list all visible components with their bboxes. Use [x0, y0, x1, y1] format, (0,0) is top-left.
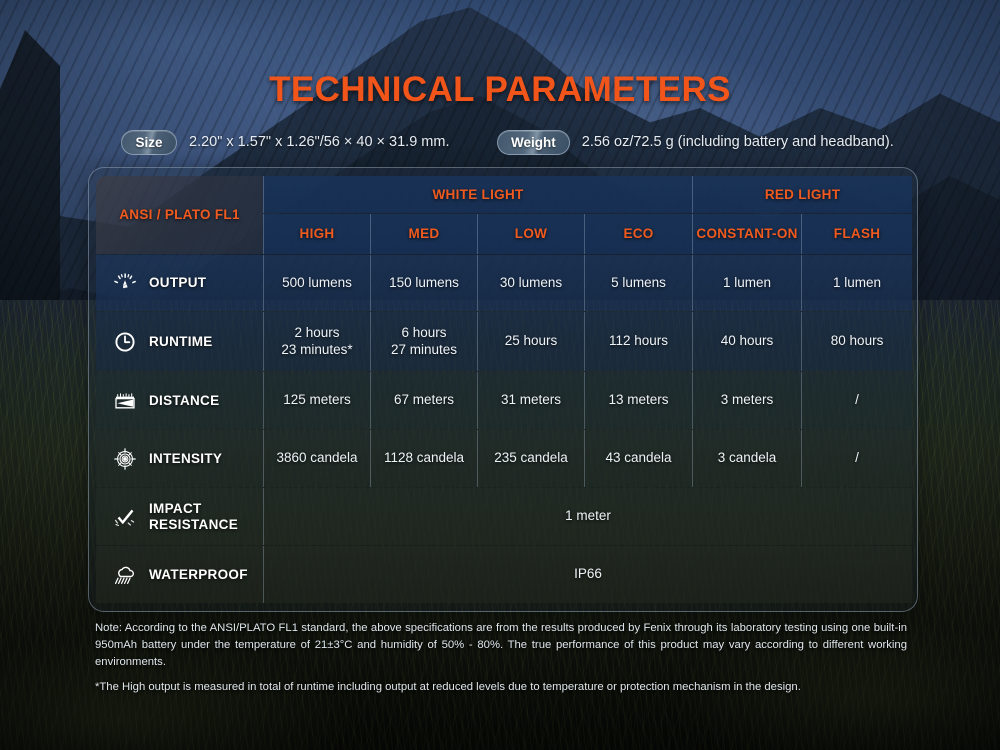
cell-value: 500 lumens — [264, 275, 370, 292]
column-label-constant-on: CONSTANT-ON — [693, 226, 801, 241]
cell-value: 5 lumens — [585, 275, 692, 292]
cell-value: 13 meters — [585, 392, 692, 409]
cell-value: 31 meters — [478, 392, 584, 409]
cell-impact-resistance-value: 1 meter — [263, 488, 912, 545]
cell-intensity-eco: 43 candela — [584, 430, 692, 487]
cell-runtime-eco: 112 hours — [584, 312, 692, 371]
cell-value: 1 meter — [264, 508, 912, 525]
row-label-distance: DISTANCE — [96, 372, 263, 429]
cell-intensity-med: 1128 candela — [370, 430, 477, 487]
cell-output-eco: 5 lumens — [584, 255, 692, 312]
cell-waterproof-value: IP66 — [263, 546, 912, 603]
row-label-text: DISTANCE — [149, 393, 219, 409]
column-label-med: MED — [371, 226, 477, 241]
table-row: INTENSITY 3860 candela 1128 candela 235 … — [96, 430, 912, 487]
cell-value: 30 lumens — [478, 275, 584, 292]
cell-value: / — [802, 450, 912, 467]
row-label-waterproof: WATERPROOF — [96, 546, 263, 603]
column-label-high: HIGH — [264, 226, 370, 241]
row-label-text: OUTPUT — [149, 275, 206, 291]
cell-runtime-flash: 80 hours — [801, 312, 912, 371]
row-label-impact-resistance: IMPACTRESISTANCE — [96, 488, 263, 545]
column-label-flash: FLASH — [802, 226, 912, 241]
cell-value: 3 meters — [693, 392, 801, 409]
cell-value: 40 hours — [693, 333, 801, 350]
cell-output-low: 30 lumens — [477, 255, 584, 312]
size-spec-line: Size 2.20" x 1.57" x 1.26"/56 × 40 × 31.… — [121, 129, 450, 155]
weight-value: 2.56 oz/72.5 g (including battery and he… — [582, 134, 894, 150]
table-group-header-row: ANSI / PLATO FL1 WHITE LIGHT RED LIGHT — [96, 176, 912, 213]
table-row: OUTPUT 500 lumens 150 lumens 30 lumens 5… — [96, 255, 912, 312]
cell-runtime-med: 6 hours27 minutes — [370, 312, 477, 371]
cell-output-high: 500 lumens — [263, 255, 370, 312]
column-label-low: LOW — [478, 226, 584, 241]
footnote-block: Note: According to the ANSI/PLATO FL1 st… — [95, 620, 907, 697]
specifications-table: ANSI / PLATO FL1 WHITE LIGHT RED LIGHT H… — [96, 175, 912, 604]
cell-distance-eco: 13 meters — [584, 372, 692, 429]
row-label-runtime: RUNTIME — [96, 312, 263, 371]
column-header-constant-on[interactable]: CONSTANT-ON — [692, 214, 801, 253]
row-label-text: WATERPROOF — [149, 567, 248, 583]
cell-distance-low: 31 meters — [477, 372, 584, 429]
cell-output-flash: 1 lumen — [801, 255, 912, 312]
page-title: TECHNICAL PARAMETERS — [0, 70, 1000, 110]
column-header-med[interactable]: MED — [370, 214, 477, 253]
cell-intensity-high: 3860 candela — [263, 430, 370, 487]
row-label-text: INTENSITY — [149, 451, 222, 467]
row-label-text: RUNTIME — [149, 334, 213, 350]
table-row: WATERPROOF IP66 — [96, 546, 912, 603]
table-row: DISTANCE 125 meters 67 meters 31 meters … — [96, 372, 912, 429]
cell-value: 1128 candela — [371, 450, 477, 467]
cell-intensity-flash: / — [801, 430, 912, 487]
cell-intensity-constant-on: 3 candela — [692, 430, 801, 487]
cell-distance-flash: / — [801, 372, 912, 429]
weight-spec-line: Weight 2.56 oz/72.5 g (including battery… — [497, 129, 894, 155]
impact-check-icon — [112, 504, 138, 530]
cell-value: 112 hours — [585, 333, 692, 350]
column-header-low[interactable]: LOW — [477, 214, 584, 253]
impact-label-line1: IMPACT — [149, 501, 202, 516]
table-row: RUNTIME 2 hours23 minutes* 6 hours27 min… — [96, 312, 912, 371]
cell-runtime-constant-on: 40 hours — [692, 312, 801, 371]
cell-distance-high: 125 meters — [263, 372, 370, 429]
group-header-white-light: WHITE LIGHT — [263, 176, 692, 213]
cell-value: 67 meters — [371, 392, 477, 409]
cell-value: 125 meters — [264, 392, 370, 409]
row-label-text: IMPACTRESISTANCE — [149, 501, 238, 533]
rain-cloud-icon — [112, 562, 138, 588]
cell-value: 3860 candela — [264, 450, 370, 467]
red-light-label: RED LIGHT — [693, 187, 912, 202]
group-header-red-light: RED LIGHT — [692, 176, 912, 213]
weight-badge: Weight — [497, 130, 570, 155]
footnote-paragraph-2: *The High output is measured in total of… — [95, 679, 907, 696]
cell-value: 80 hours — [802, 333, 912, 350]
clock-icon — [112, 329, 138, 355]
column-header-flash[interactable]: FLASH — [801, 214, 912, 253]
column-header-high[interactable]: HIGH — [263, 214, 370, 253]
cell-distance-med: 67 meters — [370, 372, 477, 429]
cell-value: 25 hours — [478, 333, 584, 350]
cell-value: 6 hours27 minutes — [371, 325, 477, 359]
cell-value: 3 candela — [693, 450, 801, 467]
cell-value: 1 lumen — [693, 275, 801, 292]
impact-label-line2: RESISTANCE — [149, 517, 238, 532]
cell-runtime-high: 2 hours23 minutes* — [263, 312, 370, 371]
ansi-plato-corner-cell: ANSI / PLATO FL1 — [96, 176, 263, 254]
cell-value: 150 lumens — [371, 275, 477, 292]
column-header-eco[interactable]: ECO — [584, 214, 692, 253]
cell-value: IP66 — [264, 566, 912, 583]
ansi-plato-label: ANSI / PLATO FL1 — [96, 207, 263, 222]
column-label-eco: ECO — [585, 226, 692, 241]
cell-value: 2 hours23 minutes* — [264, 325, 370, 359]
size-badge: Size — [121, 130, 177, 155]
cell-value: / — [802, 392, 912, 409]
cell-value: 43 candela — [585, 450, 692, 467]
cell-distance-constant-on: 3 meters — [692, 372, 801, 429]
cell-value: 235 candela — [478, 450, 584, 467]
size-value: 2.20" x 1.57" x 1.26"/56 × 40 × 31.9 mm. — [189, 134, 450, 150]
cell-intensity-low: 235 candela — [477, 430, 584, 487]
light-burst-icon — [112, 270, 138, 296]
target-intensity-icon — [112, 446, 138, 472]
cell-value: 1 lumen — [802, 275, 912, 292]
cell-runtime-low: 25 hours — [477, 312, 584, 371]
footnote-paragraph-1: Note: According to the ANSI/PLATO FL1 st… — [95, 620, 907, 671]
beam-distance-icon — [112, 388, 138, 414]
table-row: IMPACTRESISTANCE 1 meter — [96, 488, 912, 545]
technical-parameters-panel: ANSI / PLATO FL1 WHITE LIGHT RED LIGHT H… — [88, 167, 918, 612]
cell-output-constant-on: 1 lumen — [692, 255, 801, 312]
row-label-intensity: INTENSITY — [96, 430, 263, 487]
white-light-label: WHITE LIGHT — [264, 187, 692, 202]
cell-output-med: 150 lumens — [370, 255, 477, 312]
row-label-output: OUTPUT — [96, 255, 263, 312]
